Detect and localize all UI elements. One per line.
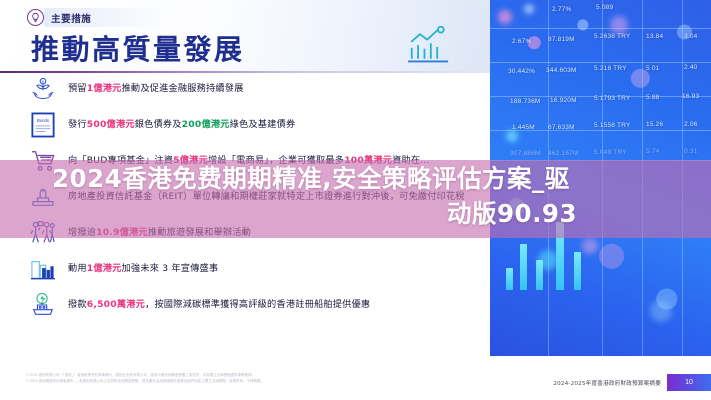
fin-cell: 462.167M (548, 150, 579, 157)
svg-text:$: $ (42, 80, 44, 84)
fin-cell: 5.1793 TRY (594, 95, 630, 102)
fin-cell: 87.819M (548, 36, 575, 43)
legal-line-2: © 2024 德勤關連會計師事務所 — 為德勤有限公司之成員所及其關連實體，提供… (26, 378, 426, 384)
fin-cell: 5.049 TRY (594, 149, 627, 156)
fin-cell: 5.218 TRY (594, 65, 627, 72)
fin-cell: 3.04 (684, 33, 697, 40)
fin-cell: 188.736M (510, 98, 541, 105)
fin-cell: 2.40 (684, 64, 697, 71)
fin-cell: 5.74 (646, 148, 659, 155)
fin-cell: 0.31 (684, 148, 697, 155)
fin-cell: 2.06 (684, 121, 697, 128)
list-item: Bonds 發行500億港元銀色債券及200億港元綠色及基建債券 (0, 110, 490, 140)
page-number-badge: 10 (667, 374, 711, 391)
kicker-label: 主要措施 (51, 11, 91, 25)
fin-cell: 5.88 (646, 94, 659, 101)
fin-cell: 907.886M (510, 150, 541, 157)
list-item-text: 撥款6,500萬港元，按國際減碳標準獲得高評級的香港註冊船舶提供優惠 (68, 290, 370, 311)
fin-cell: 30.442% (508, 68, 535, 75)
header-divider (0, 71, 490, 73)
list-item: 撥款6,500萬港元，按國際減碳標準獲得高評級的香港註冊船舶提供優惠 (0, 290, 490, 320)
watermark-line-1: 2024香港免费期期精准,安全策略评估方案_驱 (52, 164, 570, 193)
fin-cell: 5.089 (596, 4, 613, 11)
fin-cell: 16.920M (550, 97, 577, 104)
fin-cell: 13.84 (646, 33, 663, 40)
fin-cell: 5.01 (646, 65, 659, 72)
bar-chart-line-icon (408, 26, 450, 66)
fin-cell: 67.633M (548, 124, 575, 131)
slide-header: 主要措施 推動高質量發展 (0, 0, 490, 72)
document-title: 2024-2025年度香港政府財政預算案摘要 (553, 379, 661, 387)
list-item: 動用1億港元加強未來 3 年宣傳盛事 (0, 254, 490, 284)
svg-text:Bonds: Bonds (37, 118, 49, 123)
list-item-text: 動用1億港元加強未來 3 年宣傳盛事 (68, 254, 218, 275)
fin-cell: 5.2638 TRY (594, 33, 630, 40)
list-item: $ 預留1億港元推動及促進金融服務持續發展 (0, 74, 490, 104)
slide-page: 2.77% 5.089 2.67% 87.819M 5.2638 TRY 13.… (0, 0, 711, 400)
list-item-text: 預留1億港元推動及促進金融服務持續發展 (68, 74, 244, 95)
list-item-text: 發行500億港元銀色債券及200億港元綠色及基建債券 (68, 110, 295, 131)
page-title: 推動高質量發展 (31, 28, 245, 68)
fin-cell: 2.77% (552, 6, 571, 13)
footer-right-group: 2024-2025年度香港政府財政預算案摘要 10 (553, 374, 711, 391)
fin-cell: 15.26 (646, 121, 663, 128)
fin-cell: 344.603M (546, 67, 577, 74)
fin-cell: 2.67% (512, 38, 531, 45)
fin-cell: 5.1558 TRY (594, 122, 630, 129)
fin-cell: 1.445M (512, 124, 535, 131)
fin-cell: 16.93 (682, 93, 699, 100)
green-ship-icon (28, 290, 58, 320)
lightbulb-icon (27, 9, 44, 26)
legal-disclaimer: © 2024 德勤有限公司（「德勤」）香港執業會計師事務所，德勤亞太區有限公司、… (26, 372, 426, 385)
bonds-document-icon: Bonds (28, 110, 58, 140)
watermark-line-2: 动版90.93 (52, 197, 659, 232)
hands-plant-coin-icon: $ (28, 74, 58, 104)
watermark-text: 2024香港免费期期精准,安全策略评估方案_驱动版90.93 (0, 162, 711, 232)
kicker-group: 主要措施 (27, 9, 91, 26)
city-skyline-icon (28, 254, 58, 284)
